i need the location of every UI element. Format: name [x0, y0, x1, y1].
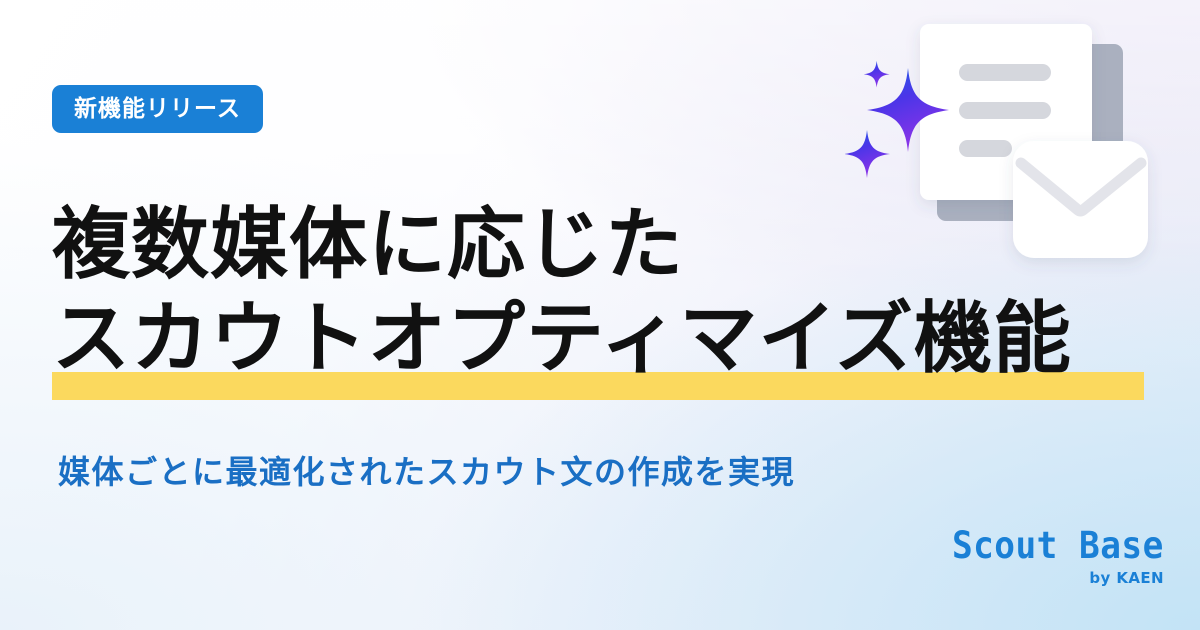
headline-line-1: 複数媒体に応じた	[52, 196, 1172, 294]
headline-line-2: スカウトオプティマイズ機能	[52, 290, 1172, 388]
promo-banner: 新機能リリース 複数媒体に応じた スカウトオプティマイズ機能 媒体ごとに最適化さ…	[0, 0, 1200, 630]
new-feature-badge: 新機能リリース	[52, 85, 263, 133]
logo-wordmark: Scout Base	[952, 527, 1164, 564]
logo-tagline: by KAEN	[936, 571, 1164, 586]
subtitle: 媒体ごとに最適化されたスカウト文の作成を実現	[58, 452, 795, 494]
brand-logo: Scout Base by KAEN	[936, 527, 1164, 586]
headline: 複数媒体に応じた スカウトオプティマイズ機能	[52, 196, 1172, 389]
